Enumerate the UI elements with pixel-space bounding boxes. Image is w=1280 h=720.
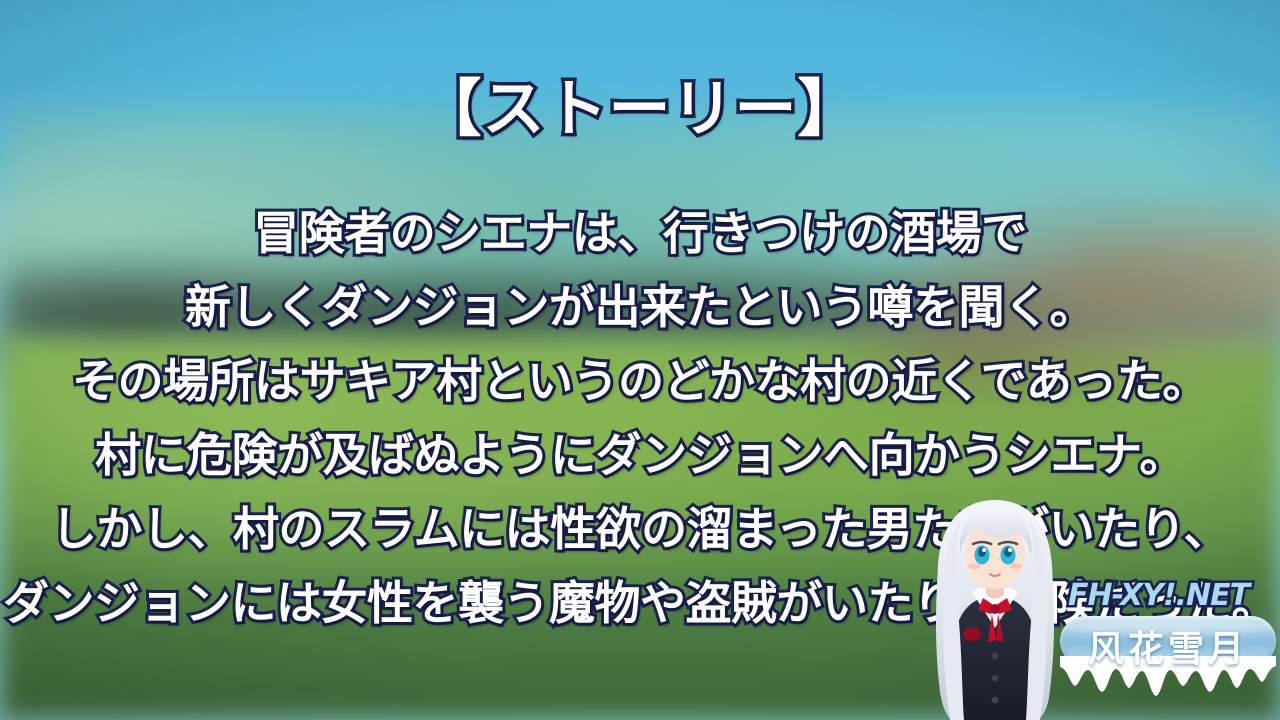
character-button xyxy=(992,675,999,682)
character-ribbon-knot xyxy=(990,604,1000,614)
watermark-site-name: 风花雪月 xyxy=(1060,620,1276,672)
watermark-url-text: FH-XY!.NET xyxy=(1068,578,1249,613)
character-button xyxy=(992,653,999,660)
character-sprite xyxy=(910,492,1080,720)
character-eye-highlight-left xyxy=(982,548,986,552)
character-emblem xyxy=(963,627,981,641)
story-screen: 【ストーリー】 冒険者のシエナは、行きつけの酒場で 新しくダンジョンが出来たとい… xyxy=(0,0,1280,720)
character-blush-left xyxy=(968,563,980,569)
character-button xyxy=(992,697,999,704)
character-blush-right xyxy=(1010,563,1022,569)
character-eye-highlight-right xyxy=(1008,548,1012,552)
watermark: FH-XY!.NET 风花雪月 xyxy=(1060,578,1280,696)
